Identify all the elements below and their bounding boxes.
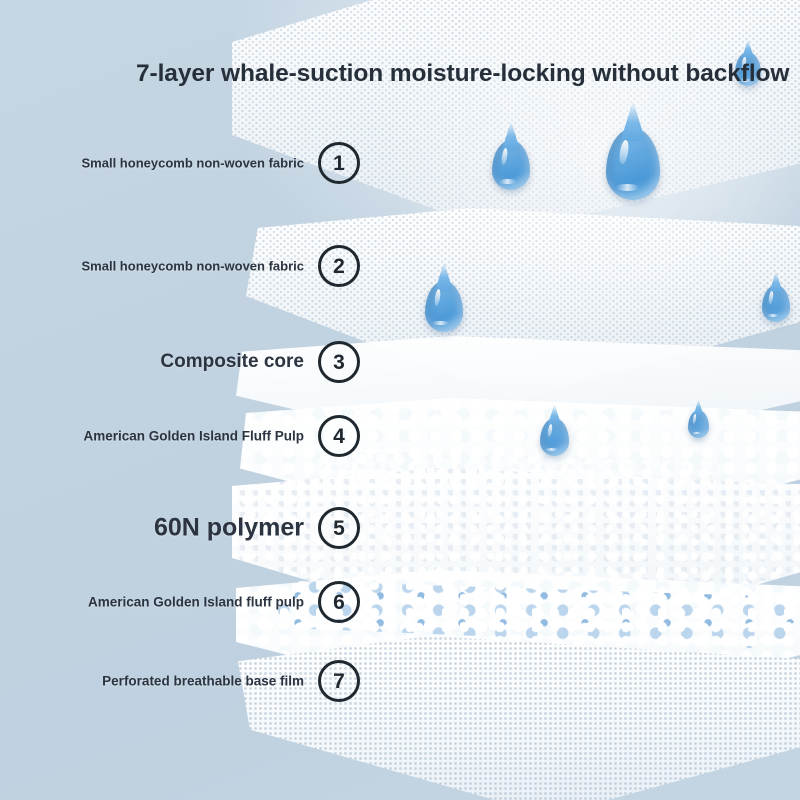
layer-number-badge-5: 5 <box>318 507 360 549</box>
layer-number-badge-2: 2 <box>318 245 360 287</box>
layer-label-3: Composite core <box>160 351 304 373</box>
page-title: 7-layer whale-suction moisture-locking w… <box>136 60 789 88</box>
droplet-glint <box>545 448 558 451</box>
layer-row-5: 60N polymer5 <box>0 506 360 550</box>
layer-number-badge-6: 6 <box>318 581 360 623</box>
droplet-glint <box>767 314 779 317</box>
droplet-glint <box>499 179 516 184</box>
droplet-tiny-right <box>688 410 709 438</box>
layer-label-5: 60N polymer <box>154 514 304 543</box>
droplet-glint <box>616 184 640 190</box>
droplet-glint <box>432 321 449 326</box>
layer-number-badge-7: 7 <box>318 660 360 702</box>
droplet-glint <box>692 432 701 435</box>
layer-number-badge-1: 1 <box>318 142 360 184</box>
infographic-canvas: 7-layer whale-suction moisture-locking w… <box>0 0 800 800</box>
layer-number-badge-3: 3 <box>318 341 360 383</box>
layer-label-4: American Golden Island Fluff Pulp <box>83 429 304 444</box>
layer-row-6: American Golden Island fluff pulp6 <box>0 580 360 624</box>
layer-label-2: Small honeycomb non-woven fabric <box>82 259 304 274</box>
layer-label-7: Perforated breathable base film <box>102 674 304 689</box>
layer-label-6: American Golden Island fluff pulp <box>88 595 304 610</box>
layer-label-1: Small honeycomb non-woven fabric <box>82 156 304 171</box>
layer-row-1: Small honeycomb non-woven fabric1 <box>0 141 360 185</box>
layer-row-7: Perforated breathable base film7 <box>0 659 360 703</box>
layer-row-4: American Golden Island Fluff Pulp4 <box>0 414 360 458</box>
layer-row-2: Small honeycomb non-woven fabric2 <box>0 244 360 288</box>
layer-number-badge-4: 4 <box>318 415 360 457</box>
layer-row-3: Composite core3 <box>0 340 360 384</box>
